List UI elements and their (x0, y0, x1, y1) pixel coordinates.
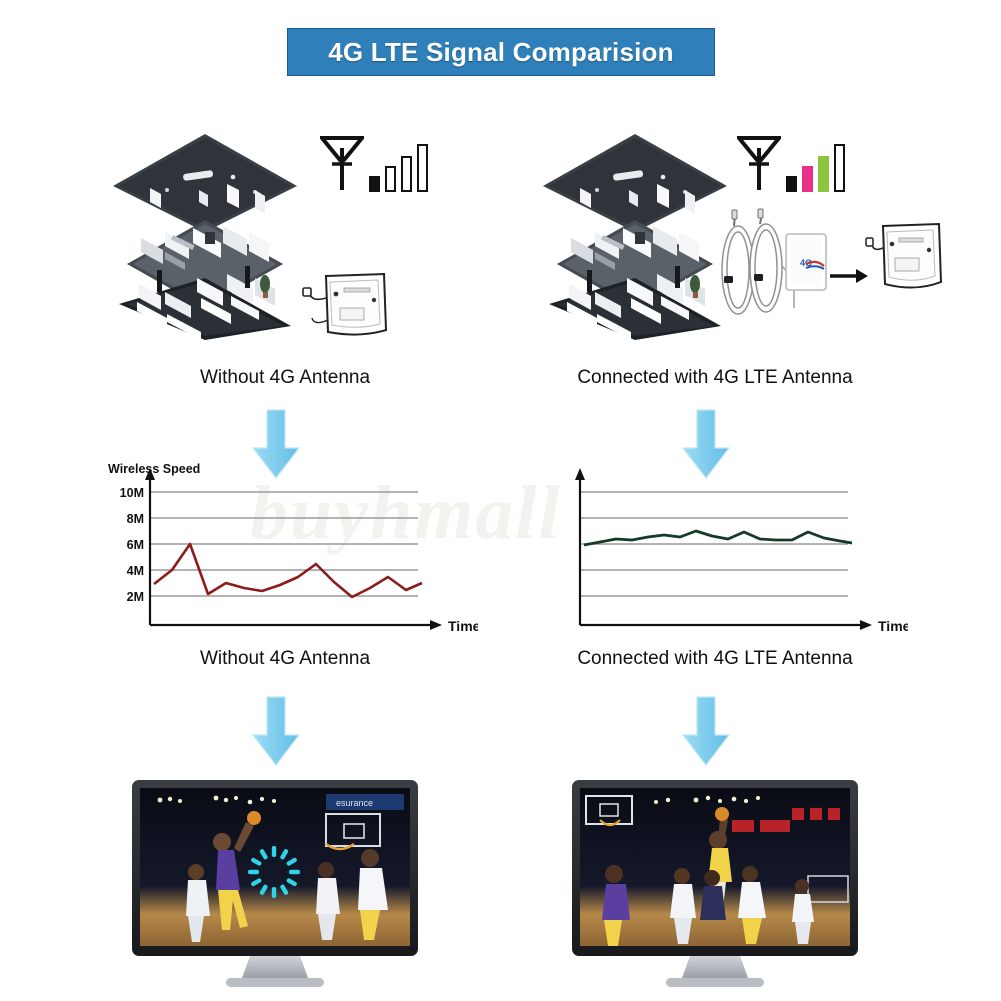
arrow-down-left-bottom (250, 695, 302, 767)
x-axis-arrowhead (860, 620, 872, 630)
y-tick-10M: 10M (120, 486, 144, 500)
signal-bar-1 (786, 176, 797, 192)
chart-without-antenna: Wireless Speed 10M 8M 6M 4M 2M Time (108, 462, 478, 647)
signal-bar-3 (401, 156, 412, 192)
caption-scene-right: Connected with 4G LTE Antenna (525, 367, 905, 389)
signal-bar-3 (818, 156, 829, 192)
signal-bar-4 (834, 144, 845, 192)
chart-plot-area: Time (538, 462, 908, 647)
x-axis-title: Time (448, 618, 478, 634)
cable-coil-icon (722, 213, 794, 314)
signal-bar-2 (802, 166, 813, 192)
page-title-banner: 4G LTE Signal Comparision (287, 28, 715, 76)
page-title: 4G LTE Signal Comparision (328, 37, 673, 68)
chart-with-antenna: Time (538, 462, 908, 647)
gridlines (580, 492, 848, 596)
signal-bars-strong-icon (737, 132, 845, 192)
chart-plot-area: 10M 8M 6M 4M 2M Time (108, 462, 478, 647)
caption-chart-right: Connected with 4G LTE Antenna (525, 648, 905, 670)
arrow-right-icon (830, 269, 868, 283)
y-axis-title: Wireless Speed (108, 462, 200, 476)
house-cutaway-illustration (105, 128, 305, 343)
signal-bar-1 (369, 176, 380, 192)
y-tick-6M: 6M (127, 538, 144, 552)
signal-bar-2 (385, 166, 396, 192)
signal-bar-4 (417, 144, 428, 192)
arrow-down-right-bottom (680, 695, 732, 767)
tv-clear (570, 778, 860, 993)
antenna-icon (737, 134, 781, 192)
series-strong-line (584, 531, 852, 545)
scene-without-antenna (95, 120, 475, 350)
scene-with-antenna: 4G (525, 120, 905, 350)
caption-chart-left: Without 4G Antenna (95, 648, 475, 670)
tv-buffering: esurance (130, 778, 420, 993)
caption-scene-left: Without 4G Antenna (95, 367, 475, 389)
svg-text:esurance: esurance (336, 798, 373, 808)
y-tick-8M: 8M (127, 512, 144, 526)
antenna-panel-icon: 4G (786, 234, 826, 290)
signal-bars-weak-icon (320, 132, 428, 192)
house-cutaway-illustration (535, 128, 735, 343)
y-axis-arrowhead (575, 468, 585, 480)
router-icon (300, 268, 390, 343)
router-icon (865, 220, 945, 302)
x-axis-title: Time (878, 618, 908, 634)
y-tick-2M: 2M (127, 590, 144, 604)
x-axis-arrowhead (430, 620, 442, 630)
y-tick-4M: 4M (127, 564, 144, 578)
antenna-icon (320, 134, 364, 192)
